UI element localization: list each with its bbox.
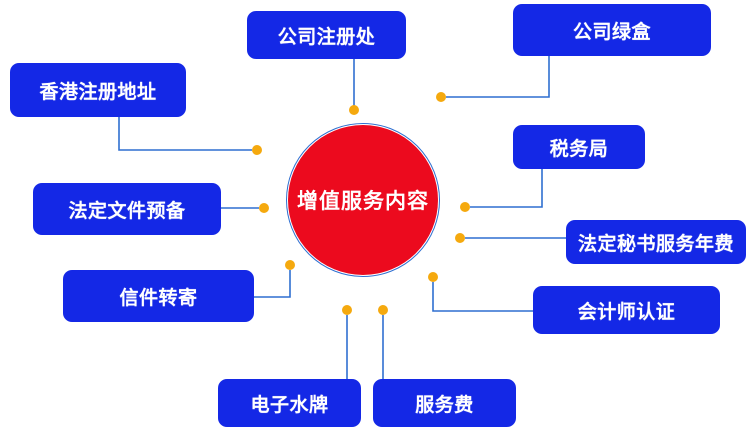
node-label-mail-forwarding: 信件转寄 [119,283,197,310]
node-service-fee[interactable]: 服务费 [373,379,516,427]
connector-dot-statutory-document-prep [259,203,269,213]
node-label-statutory-document-prep: 法定文件预备 [68,196,185,223]
hub-label: 增值服务内容 [297,185,429,215]
connector-dot-service-fee [378,305,388,315]
node-label-statutory-secretary-annual-fee: 法定秘书服务年费 [578,229,734,256]
connector-dot-mail-forwarding [285,260,295,270]
node-company-green-box[interactable]: 公司绿盒 [513,4,711,56]
node-label-company-registry: 公司注册处 [278,22,376,49]
conn-accountant-cert [433,282,533,311]
node-tax-bureau[interactable]: 税务局 [513,125,645,169]
connector-dot-electronic-nameplate [342,305,352,315]
connector-dot-tax-bureau [460,202,470,212]
node-statutory-document-prep[interactable]: 法定文件预备 [33,183,221,235]
conn-company-green-box [446,56,549,97]
node-label-electronic-nameplate: 电子水牌 [250,390,328,417]
node-label-hk-registered-address: 香港注册地址 [39,77,156,104]
connector-dot-company-registry [349,105,359,115]
node-label-tax-bureau: 税务局 [550,134,609,161]
node-accountant-certification[interactable]: 会计师认证 [533,286,720,334]
value-added-services-diagram: 增值服务内容 公司注册处公司绿盒香港注册地址税务局法定文件预备法定秘书服务年费信… [0,0,750,431]
node-label-accountant-certification: 会计师认证 [578,297,676,324]
node-mail-forwarding[interactable]: 信件转寄 [63,270,254,322]
node-electronic-nameplate[interactable]: 电子水牌 [218,379,361,427]
node-statutory-secretary-annual-fee[interactable]: 法定秘书服务年费 [566,220,746,264]
hub-center-circle: 增值服务内容 [288,125,438,275]
connector-dot-accountant-certification [428,272,438,282]
connector-dot-company-green-box [436,92,446,102]
connector-dot-hk-registered-address [252,145,262,155]
connector-dot-statutory-secretary-annual-fee [455,233,465,243]
node-hk-registered-address[interactable]: 香港注册地址 [10,63,186,117]
conn-hk-registered-address [119,117,252,150]
node-label-service-fee: 服务费 [415,390,474,417]
node-company-registry[interactable]: 公司注册处 [247,11,406,59]
node-label-company-green-box: 公司绿盒 [573,17,651,44]
conn-mail-forwarding [254,270,290,297]
conn-tax-bureau [470,169,542,207]
